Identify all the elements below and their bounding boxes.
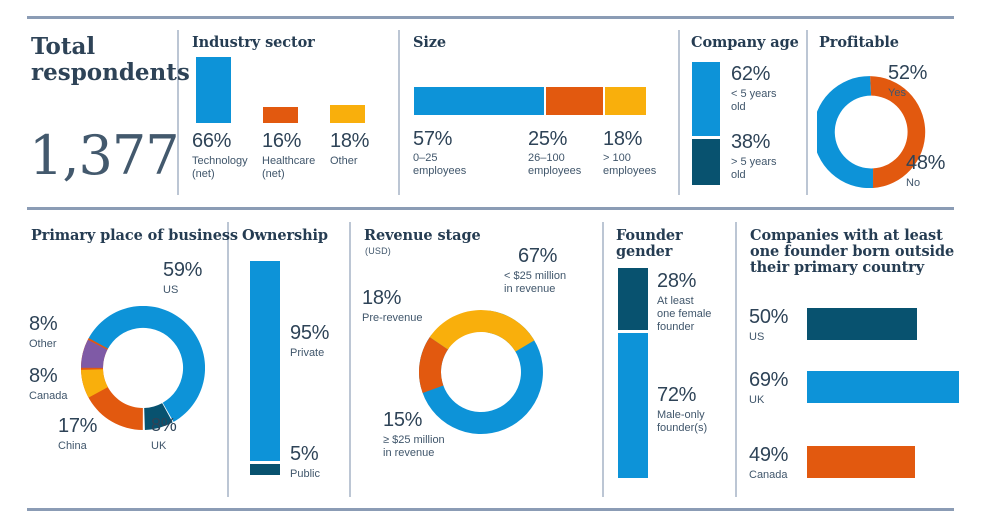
size-label-0-25-range: 0–25 <box>413 152 437 164</box>
industry-pct-technology: 66% <box>192 130 231 153</box>
place-label-canada: Canada <box>29 390 68 403</box>
revenue-stage-donut-chart <box>419 310 543 434</box>
founder-gender-label-male-1: Male-only <box>657 409 705 421</box>
place-pct-other: 8% <box>29 313 57 336</box>
divider-top <box>27 16 954 19</box>
industry-sector-title: Industry sector <box>192 35 315 51</box>
size-pct-26-100: 25% <box>528 128 567 151</box>
company-age-bar-over-5 <box>692 139 720 185</box>
place-label-us: US <box>163 284 178 297</box>
ownership-bar-public <box>250 464 280 475</box>
ownership-label-public: Public <box>290 468 320 481</box>
profitable-label-yes: Yes <box>888 87 906 100</box>
founder-gender-pct-male-only: 72% <box>657 384 696 407</box>
size-title: Size <box>413 35 446 51</box>
company-age-label-under-5: < 5 years <box>731 88 777 100</box>
founder-gender-pct-female: 28% <box>657 270 696 293</box>
primary-place-title: Primary place of business <box>31 228 238 244</box>
revenue-pct-pre-revenue: 18% <box>362 287 401 310</box>
industry-label-technology-net: (net) <box>192 168 215 180</box>
revenue-pct-over-25m: 15% <box>383 409 422 432</box>
divider-middle <box>27 207 954 210</box>
founder-gender-title-line1: Founder <box>616 227 683 244</box>
industry-label-healthcare: Healthcare <box>262 155 315 167</box>
total-respondents-value: 1,377 <box>29 124 179 187</box>
size-label-0-25-unit: employees <box>413 165 466 177</box>
profitable-pct-no: 48% <box>906 152 945 175</box>
place-label-uk: UK <box>151 440 166 453</box>
company-age-label-under-5-old: old <box>731 101 746 113</box>
revenue-stage-subtitle: (USD) <box>365 246 391 256</box>
company-age-label-over-5-old: old <box>731 169 746 181</box>
place-pct-uk: 8% <box>151 415 176 436</box>
industry-bar-technology <box>196 57 231 123</box>
foreign-founder-bar-us <box>807 308 917 340</box>
revenue-label-over-25m-line2: in revenue <box>383 447 434 459</box>
foreign-founder-label-canada: Canada <box>749 469 788 482</box>
founder-gender-title-line2: gender <box>616 243 672 260</box>
total-title-line2: respondents <box>31 59 190 86</box>
revenue-stage-title: Revenue stage <box>364 228 481 244</box>
foreign-founder-title-line3: their primary country <box>750 259 924 276</box>
total-title-line1: Total <box>31 33 95 60</box>
company-age-bar-under-5 <box>692 62 720 136</box>
size-pct-over-100: 18% <box>603 128 642 151</box>
place-pct-us: 59% <box>163 259 202 282</box>
company-age-pct-over-5: 38% <box>731 131 770 154</box>
size-bar-0-25 <box>414 87 544 115</box>
founder-gender-bar-female <box>618 268 648 330</box>
divider-vertical-2 <box>398 30 400 195</box>
size-bar-26-100 <box>546 87 603 115</box>
revenue-label-over-25m-line1: ≥ $25 million <box>383 434 445 446</box>
industry-pct-healthcare: 16% <box>262 130 301 153</box>
foreign-founder-label-us: US <box>749 331 764 344</box>
place-label-other: Other <box>29 338 57 351</box>
size-bar-over-100 <box>605 87 646 115</box>
industry-bar-healthcare <box>263 107 298 123</box>
revenue-label-pre-revenue: Pre-revenue <box>362 312 423 325</box>
revenue-label-under-25m-line2: in revenue <box>504 283 555 295</box>
ownership-title: Ownership <box>242 228 328 244</box>
foreign-founder-title-line1: Companies with at least <box>750 227 943 244</box>
company-age-title: Company age <box>691 35 799 51</box>
industry-label-technology: Technology <box>192 155 248 167</box>
industry-pct-other: 18% <box>330 130 369 153</box>
ownership-label-private: Private <box>290 347 324 360</box>
size-label-over-100-range: > 100 <box>603 152 631 164</box>
founder-gender-label-male-2: founder(s) <box>657 422 707 434</box>
industry-label-other: Other <box>330 155 358 168</box>
place-label-china: China <box>58 440 87 453</box>
divider-vertical-8 <box>735 222 737 497</box>
place-pct-canada: 8% <box>29 365 57 388</box>
foreign-founder-title-line2: one founder born outside <box>750 243 954 260</box>
founder-gender-label-female-2: one female <box>657 308 711 320</box>
foreign-founder-bar-uk <box>807 371 959 403</box>
divider-vertical-4 <box>806 30 808 195</box>
foreign-founder-bar-canada <box>807 446 915 478</box>
ownership-bar-private <box>250 261 280 461</box>
revenue-pct-under-25m: 67% <box>518 245 557 268</box>
ownership-pct-private: 95% <box>290 322 329 345</box>
size-label-26-100-range: 26–100 <box>528 152 565 164</box>
place-pct-china: 17% <box>58 415 97 438</box>
profitable-label-no: No <box>906 177 920 190</box>
profitable-pct-yes: 52% <box>888 62 927 85</box>
divider-vertical-6 <box>349 222 351 497</box>
size-label-over-100-unit: employees <box>603 165 656 177</box>
founder-gender-label-female-1: At least <box>657 295 694 307</box>
primary-place-donut-chart <box>81 306 205 430</box>
industry-label-healthcare-net: (net) <box>262 168 285 180</box>
ownership-pct-public: 5% <box>290 443 318 466</box>
foreign-founder-pct-us: 50% <box>749 306 788 329</box>
size-pct-0-25: 57% <box>413 128 452 151</box>
company-age-pct-under-5: 62% <box>731 63 770 86</box>
founder-gender-bar-male-only <box>618 333 648 478</box>
foreign-founder-pct-uk: 69% <box>749 369 788 392</box>
foreign-founder-label-uk: UK <box>749 394 764 407</box>
founder-gender-label-female-3: founder <box>657 321 694 333</box>
company-age-label-over-5: > 5 years <box>731 156 777 168</box>
divider-vertical-3 <box>678 30 680 195</box>
foreign-founder-pct-canada: 49% <box>749 444 788 467</box>
industry-bar-other <box>330 105 365 123</box>
revenue-label-under-25m-line1: < $25 million <box>504 270 566 282</box>
profitable-title: Profitable <box>819 35 899 51</box>
divider-vertical-7 <box>602 222 604 497</box>
infographic-root: Total respondents 1,377 Industry sector … <box>0 0 981 522</box>
divider-bottom <box>27 508 954 511</box>
size-label-26-100-unit: employees <box>528 165 581 177</box>
divider-vertical-5 <box>227 222 229 497</box>
